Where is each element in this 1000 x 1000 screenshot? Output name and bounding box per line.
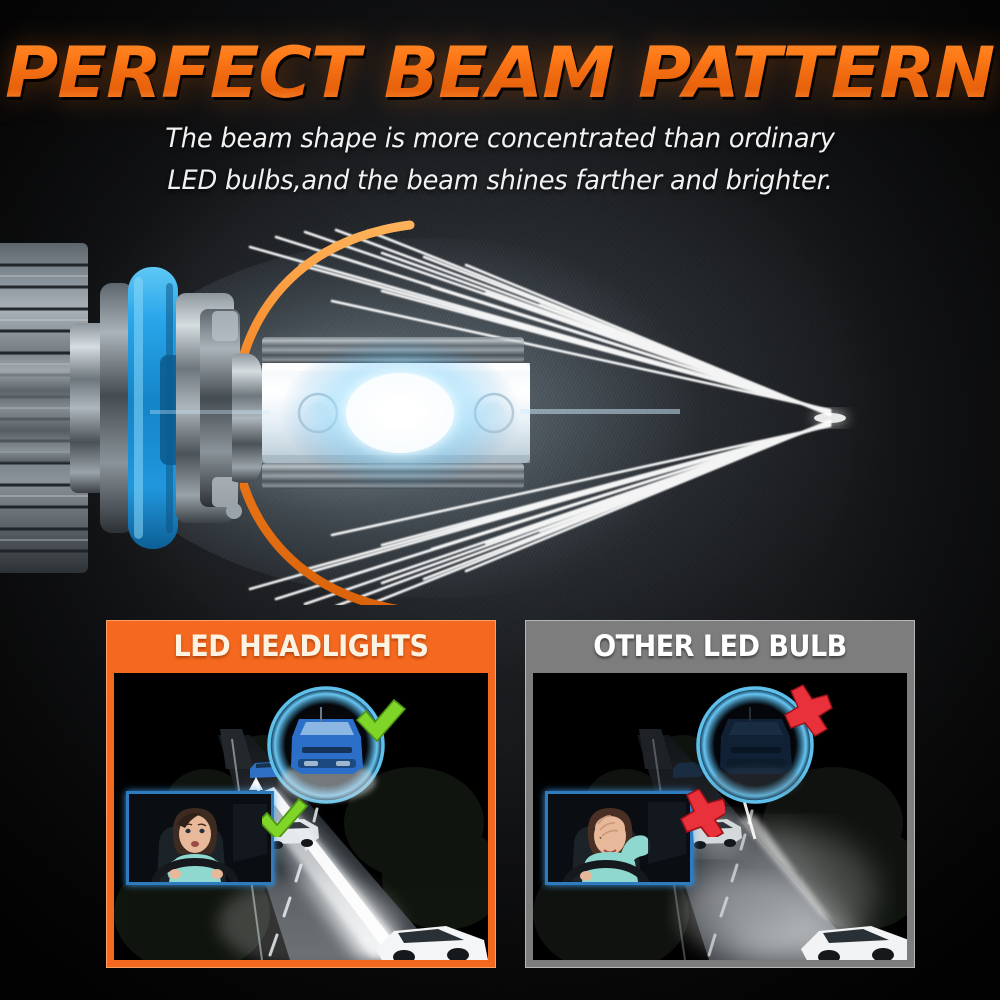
panel-led-headlights[interactable]: LED HEADLIGHTS bbox=[106, 620, 496, 968]
beam-diagram-svg bbox=[0, 205, 1000, 605]
cross-mark-driver-bad bbox=[677, 789, 725, 837]
driver-inset-good bbox=[126, 791, 274, 885]
panel-title-led-headlights: LED HEADLIGHTS bbox=[120, 620, 483, 672]
panel-other-led-bulb[interactable]: OTHER LED BULB bbox=[525, 620, 915, 968]
bulb-holder-arm bbox=[232, 353, 262, 483]
circle-inset-bad bbox=[697, 687, 813, 803]
check-mark-driver-good bbox=[262, 791, 308, 837]
bulb-tab-top bbox=[212, 311, 238, 341]
driver-bad-svg bbox=[548, 794, 690, 882]
beam-pattern-illustration bbox=[0, 205, 1000, 605]
page-title: PERFECT BEAM PATTERN bbox=[5, 36, 994, 110]
scene-good-beam bbox=[114, 673, 488, 960]
subtitle-line-2: LED bulbs,and the beam shines farther an… bbox=[25, 160, 975, 202]
panel-title-other-led-bulb: OTHER LED BULB bbox=[539, 620, 902, 672]
beam-focus-point bbox=[814, 413, 846, 423]
driver-good-svg bbox=[129, 794, 271, 882]
page-subtitle: The beam shape is more concentrated than… bbox=[25, 118, 975, 202]
circle-inset-good bbox=[268, 687, 384, 803]
comparison-section: LED HEADLIGHTS bbox=[0, 620, 1000, 980]
bulb-pin bbox=[226, 503, 242, 519]
bulb-blue-collar bbox=[128, 267, 182, 549]
driver-inset-bad bbox=[545, 791, 693, 885]
subtitle-line-1: The beam shape is more concentrated than… bbox=[25, 118, 975, 160]
scene-bad-beam bbox=[533, 673, 907, 960]
shielding-hand bbox=[595, 816, 625, 840]
headline-block: PERFECT BEAM PATTERN bbox=[0, 36, 1000, 110]
product-infographic: PERFECT BEAM PATTERN The beam shape is m… bbox=[0, 0, 1000, 1000]
